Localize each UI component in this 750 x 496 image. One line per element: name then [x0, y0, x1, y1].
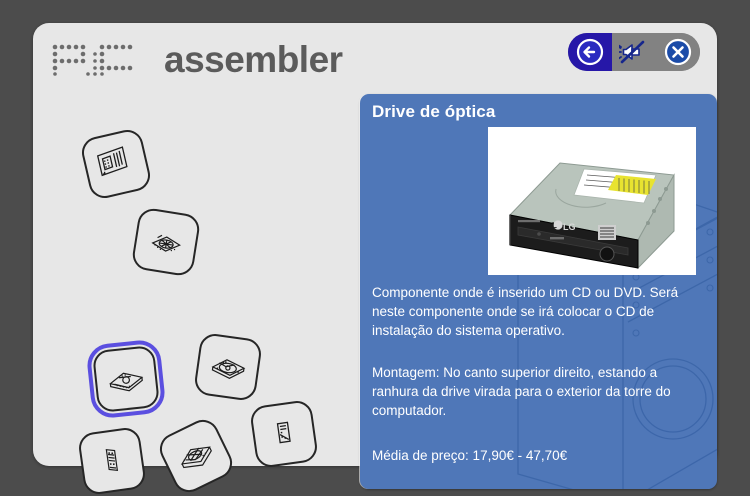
product-image: L LG — [488, 127, 696, 275]
panel-assembly-note: Montagem: No canto superior direito, est… — [372, 363, 704, 420]
app-window: assembler — [0, 0, 750, 496]
graphics-card-icon — [257, 407, 311, 461]
sound-button[interactable] — [612, 33, 656, 71]
optical-drive-photo: L LG — [488, 127, 696, 275]
svg-text:L: L — [552, 221, 557, 230]
component-icon-motherboard[interactable] — [79, 127, 153, 201]
component-icon-optical-drive[interactable] — [92, 345, 160, 413]
ram-module-icon — [85, 434, 139, 488]
close-button[interactable] — [656, 33, 700, 71]
component-icon-hard-disk[interactable] — [193, 332, 263, 402]
panel-title: Drive de óptica — [372, 102, 495, 122]
back-arrow-icon — [576, 38, 604, 66]
close-x-icon — [664, 38, 692, 66]
sound-mute-icon — [619, 38, 649, 66]
component-icon-ram[interactable] — [77, 426, 147, 496]
component-icon-psu[interactable] — [155, 415, 238, 496]
panel-description: Componente onde é inserido um CD ou DVD.… — [372, 283, 704, 340]
cpu-fan-icon — [139, 215, 194, 270]
component-icon-field — [33, 78, 353, 466]
back-button[interactable] — [568, 33, 612, 71]
info-panel: Drive de óptica — [360, 94, 717, 489]
component-icon-cpu[interactable] — [131, 207, 202, 278]
svg-text:LG: LG — [563, 222, 576, 232]
pc-dot-matrix-logo-icon — [50, 42, 150, 76]
app-wordmark: assembler — [164, 41, 343, 78]
panel-price: Média de preço: 17,90€ - 47,70€ — [372, 446, 704, 465]
hard-disk-icon — [201, 340, 255, 394]
main-card: assembler — [33, 23, 717, 466]
window-controls — [568, 33, 700, 71]
component-icon-graphics-card[interactable] — [249, 399, 319, 469]
optical-drive-icon — [100, 353, 153, 406]
